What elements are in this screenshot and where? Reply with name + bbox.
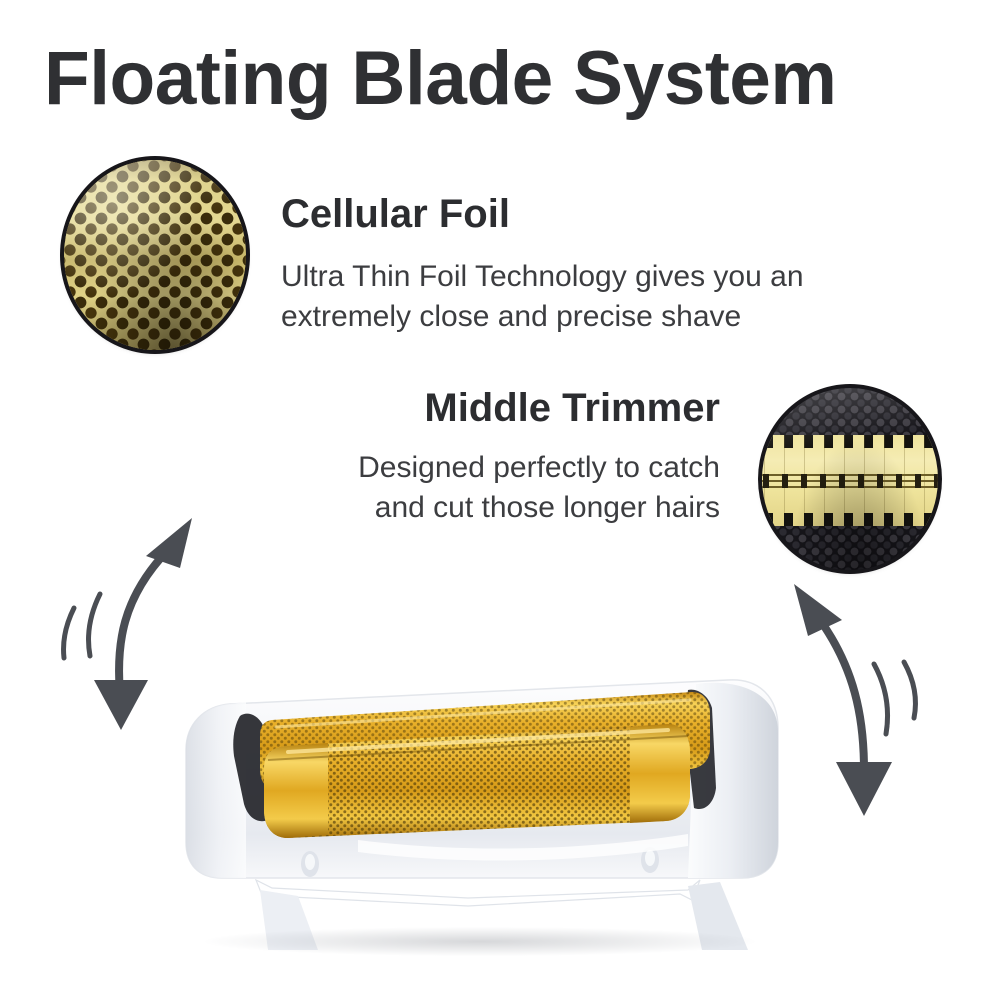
middle-trimmer-description-line-2: and cut those longer hairs bbox=[260, 488, 720, 528]
middle-trimmer-closeup-image bbox=[762, 388, 938, 570]
infographic-canvas: Floating Blade System Cellular Foil Ultr… bbox=[0, 0, 1001, 1001]
cellular-foil-description: Ultra Thin Foil Technology gives you an … bbox=[281, 257, 901, 337]
trimmer-sheen-overlay bbox=[762, 388, 938, 570]
cellular-foil-description-line-1: Ultra Thin Foil Technology gives you an bbox=[281, 257, 901, 297]
middle-trimmer-description-line-1: Designed perfectly to catch bbox=[260, 448, 720, 488]
foil-sheen-overlay bbox=[64, 160, 246, 350]
cellular-foil-description-line-2: extremely close and precise shave bbox=[281, 297, 901, 337]
middle-trimmer-description: Designed perfectly to catch and cut thos… bbox=[260, 448, 720, 528]
floating-motion-arrow-right-icon bbox=[768, 558, 954, 824]
right-pivot-dimple-inner bbox=[645, 850, 655, 866]
cellular-foil-closeup-image bbox=[64, 160, 246, 350]
shaver-foil-head-illustration bbox=[168, 628, 792, 950]
page-title: Floating Blade System bbox=[44, 36, 946, 122]
shaver-foil-head-image bbox=[168, 628, 792, 950]
middle-trimmer-heading: Middle Trimmer bbox=[300, 386, 720, 430]
cellular-foil-heading: Cellular Foil bbox=[281, 192, 510, 236]
product-shadow bbox=[205, 927, 754, 956]
left-pivot-dimple-inner bbox=[305, 854, 315, 870]
